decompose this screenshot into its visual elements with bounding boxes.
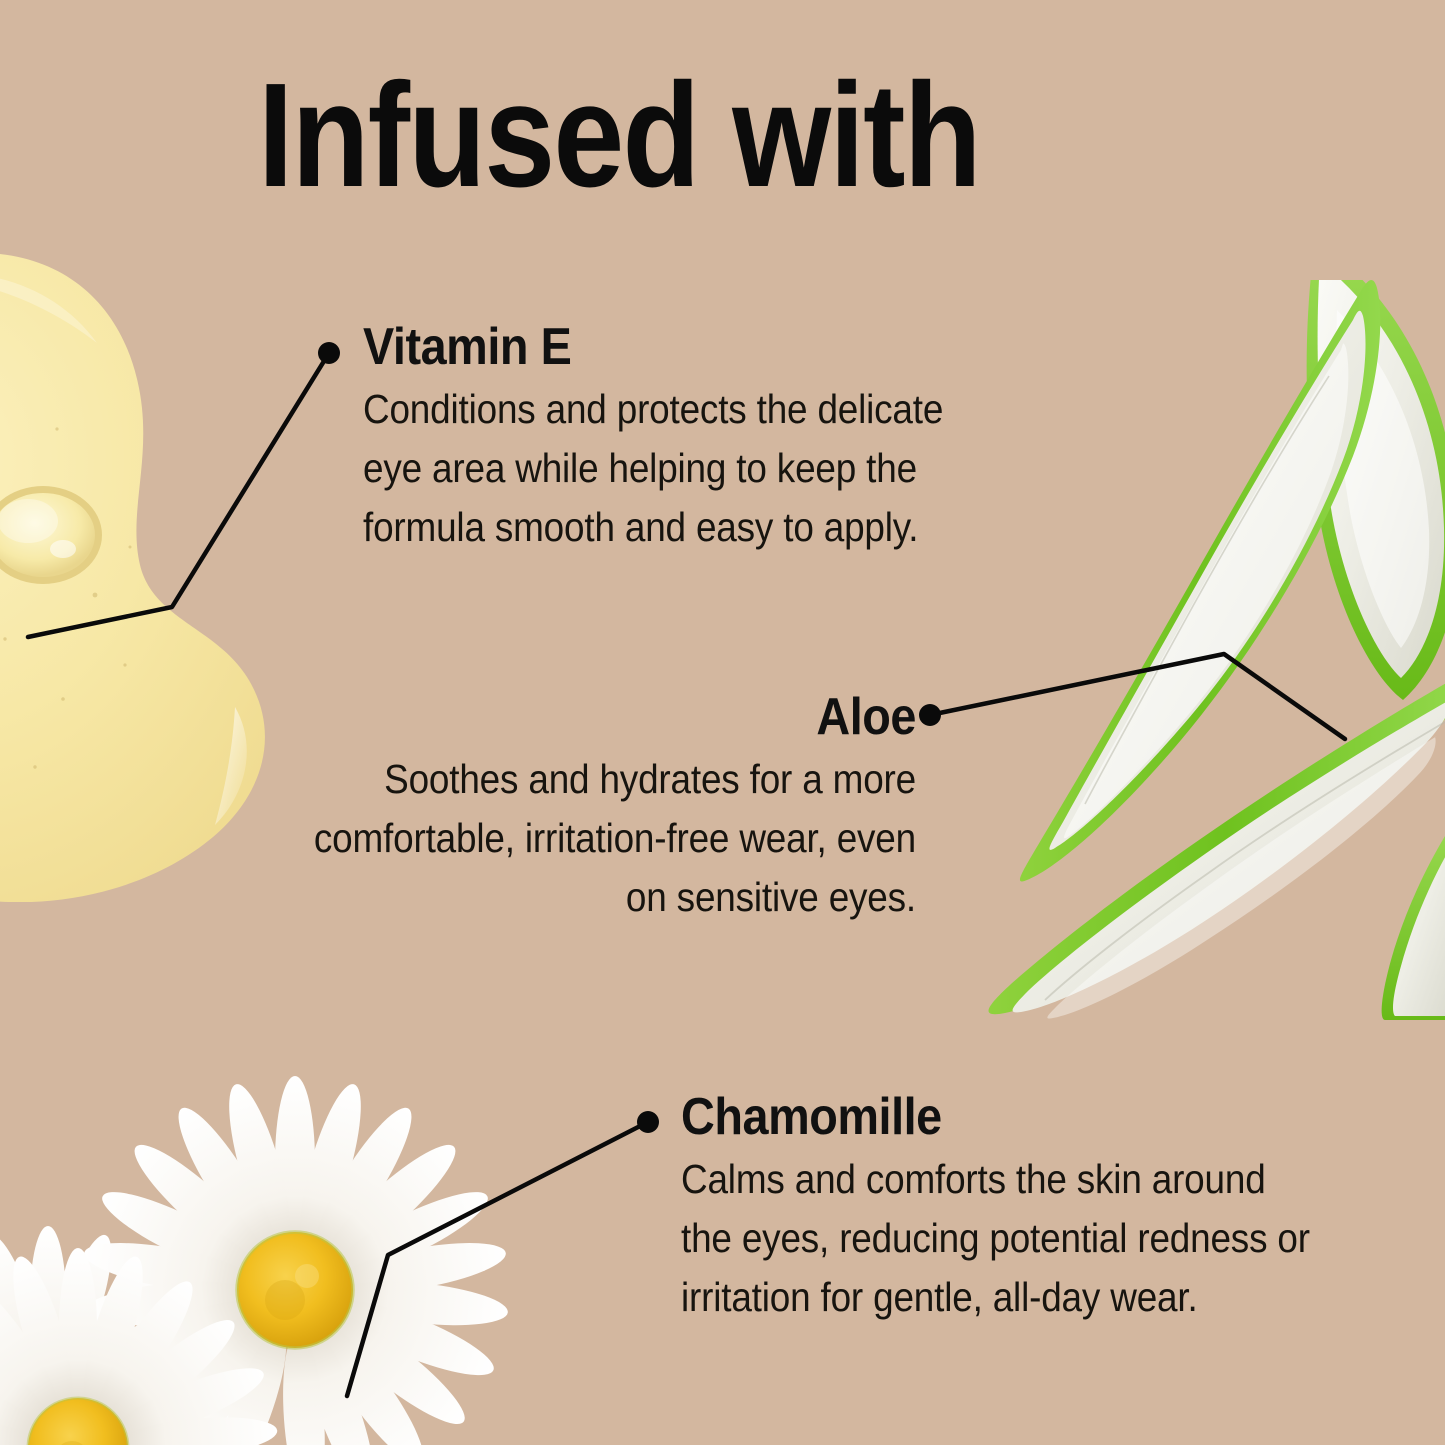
ingredient-term-vitamin-e: Vitamin E	[363, 318, 993, 376]
leader-line-aloe	[919, 654, 1345, 739]
leader-line-vitamin-e	[28, 342, 340, 637]
ingredient-description-vitamin-e: Conditions and protects the delicate eye…	[363, 380, 993, 557]
ingredient-term-aloe: Aloe	[308, 688, 916, 746]
ingredient-block-chamomille: Chamomille Calms and comforts the skin a…	[681, 1088, 1381, 1327]
leader-line-chamomille	[347, 1111, 659, 1396]
infused-with-poster: Infused with Vitamin E Conditions and pr…	[0, 0, 1445, 1445]
ingredient-block-aloe: Aloe Soothes and hydrates for a more com…	[240, 688, 916, 927]
ingredient-description-aloe: Soothes and hydrates for a more comforta…	[308, 750, 916, 927]
leader-dot-vitamin-e	[318, 342, 340, 364]
leader-dot-aloe	[919, 704, 941, 726]
ingredient-block-vitamin-e: Vitamin E Conditions and protects the de…	[363, 318, 1063, 557]
page-title: Infused with	[258, 62, 980, 210]
leader-dot-chamomille	[637, 1111, 659, 1133]
ingredient-description-chamomille: Calms and comforts the skin around the e…	[681, 1150, 1311, 1327]
ingredient-term-chamomille: Chamomille	[681, 1088, 1311, 1146]
